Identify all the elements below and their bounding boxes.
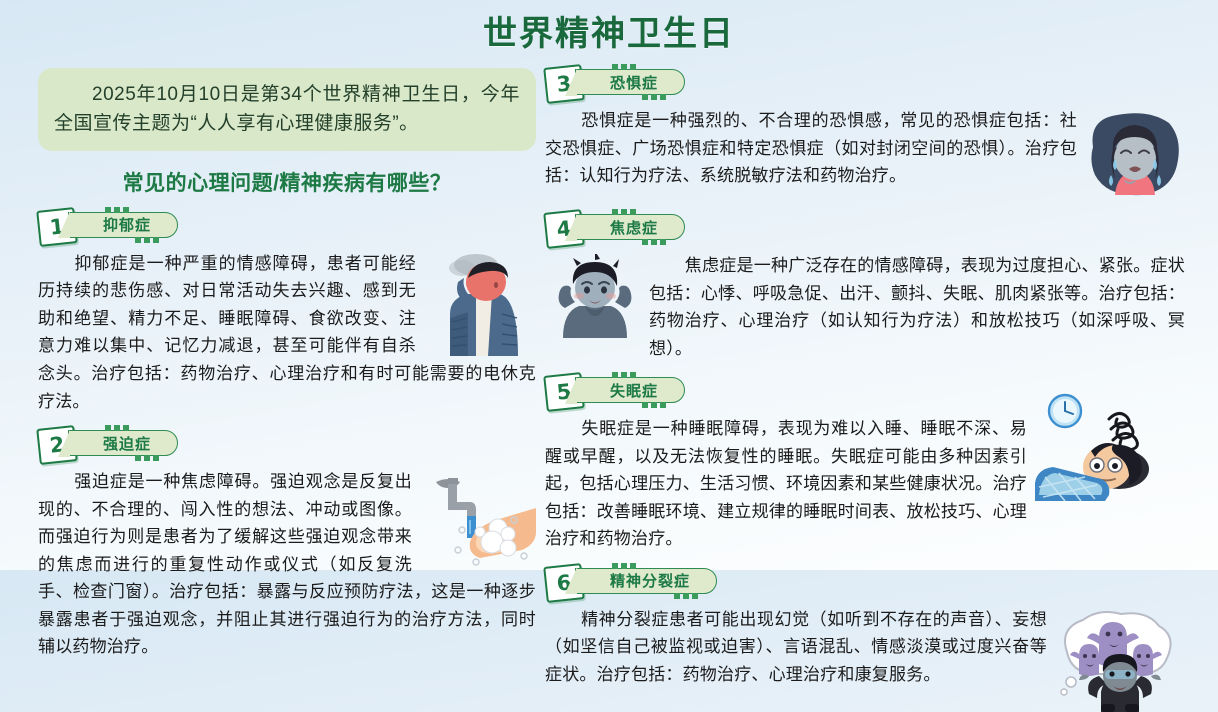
item-4-body: 焦虑症是一种广泛存在的情感障碍，表现为过度担心、紧张。症状包括：心悸、呼吸急促、… [545, 252, 1185, 362]
left-column: 2025年10月10日是第34个世界精神卫生日，今年全国宣传主题为“人人享有心理… [38, 68, 536, 661]
item-3-title: 恐惧症 [610, 72, 658, 93]
infographic-page: 世界精神卫生日 2025年10月10日是第34个世界精神卫生日，今年全国宣传主题… [0, 0, 1218, 570]
item-1-pill: 抑郁症 [68, 212, 178, 238]
item-6: 6 精神分裂症 [545, 565, 1185, 712]
item-1-title: 抑郁症 [103, 214, 151, 235]
item-1-badge: 1 抑郁症 [38, 209, 536, 243]
dots-decoration-icon [642, 239, 666, 245]
dots-decoration-icon [642, 402, 666, 408]
intro-box: 2025年10月10日是第34个世界精神卫生日，今年全国宣传主题为“人人享有心理… [38, 68, 536, 151]
frightened-girl-icon [1085, 107, 1185, 199]
right-column: 3 恐惧症 [545, 66, 1185, 712]
hallucination-ghosts-icon [1055, 606, 1185, 712]
item-3-badge: 3 恐惧症 [545, 66, 1185, 100]
handwashing-faucet-icon [418, 472, 536, 572]
item-3-body-text: 恐惧症是一种强烈的、不合理的恐惧感，常见的恐惧症包括：社交恐惧症、广场恐惧症和特… [545, 111, 1077, 185]
insomnia-bed-clock-icon [1035, 391, 1185, 501]
item-1: 1 抑郁症 [38, 209, 536, 415]
dots-decoration-icon [642, 94, 666, 100]
item-2: 2 强迫症 [38, 427, 536, 661]
dots-decoration-icon [612, 209, 636, 215]
item-2-title: 强迫症 [103, 433, 151, 454]
item-4: 4 焦虑症 [545, 211, 1185, 362]
depressed-person-icon [424, 252, 536, 360]
dots-decoration-icon [135, 237, 159, 243]
dots-decoration-icon [105, 425, 129, 431]
dots-decoration-icon [674, 593, 698, 599]
dots-decoration-icon [105, 207, 129, 213]
item-4-pill: 焦虑症 [575, 214, 685, 240]
dots-decoration-icon [612, 372, 636, 378]
dots-decoration-icon [612, 563, 636, 569]
item-5-body-text: 失眠症是一种睡眠障碍，表现为难以入睡、睡眠不深、易醒或早醒，以及无法恢复性的睡眠… [545, 419, 1027, 548]
item-5-pill: 失眠症 [575, 377, 685, 403]
item-3-pill: 恐惧症 [575, 69, 685, 95]
item-2-badge: 2 强迫症 [38, 427, 536, 461]
item-6-body-text: 精神分裂症患者可能出现幻觉（如听到不存在的声音）、妄想（如坚信自己被监视或迫害）… [545, 610, 1047, 684]
item-2-pill: 强迫症 [68, 430, 178, 456]
intro-text: 2025年10月10日是第34个世界精神卫生日，今年全国宣传主题为“人人享有心理… [54, 84, 520, 134]
item-5: 5 失眠症 [545, 374, 1185, 553]
item-3: 3 恐惧症 [545, 66, 1185, 199]
item-6-title: 精神分裂症 [610, 570, 690, 591]
item-6-pill: 精神分裂症 [575, 568, 717, 594]
item-4-badge: 4 焦虑症 [545, 211, 1185, 245]
page-title: 世界精神卫生日 [0, 6, 1218, 55]
item-4-title: 焦虑症 [610, 217, 658, 238]
dots-decoration-icon [135, 455, 159, 461]
dots-decoration-icon [612, 64, 636, 70]
item-5-title: 失眠症 [610, 380, 658, 401]
section-heading: 常见的心理问题/精神疾病有哪些？ [38, 167, 536, 197]
item-4-body-text: 焦虑症是一种广泛存在的情感障碍，表现为过度担心、紧张。症状包括：心悸、呼吸急促、… [649, 256, 1185, 358]
anxious-person-icon [549, 254, 641, 338]
